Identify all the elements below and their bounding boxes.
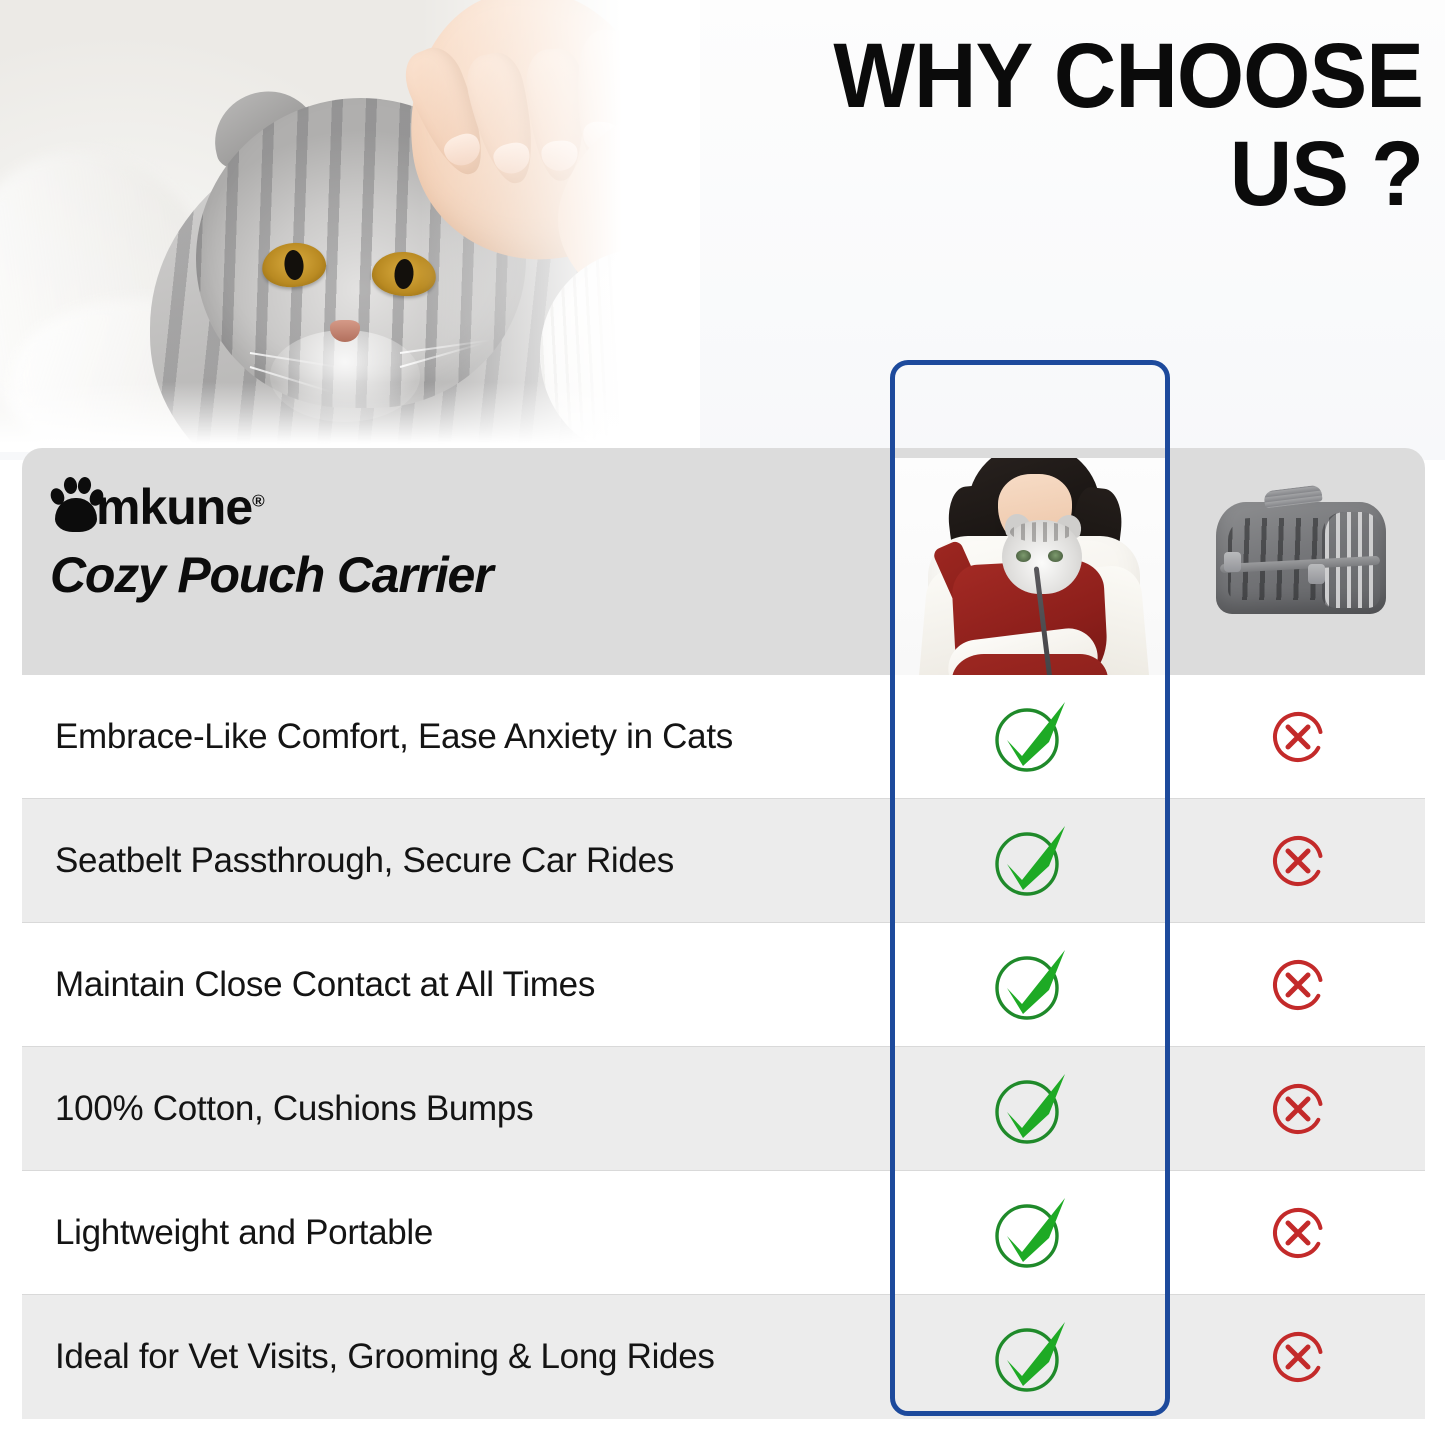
green-check-circle-icon <box>987 942 1073 1028</box>
hero-cat-photo <box>0 0 700 452</box>
table-row: Ideal for Vet Visits, Grooming & Long Ri… <box>22 1295 1425 1419</box>
table-row: 100% Cotton, Cushions Bumps <box>22 1047 1425 1171</box>
green-check-circle-icon <box>987 694 1073 780</box>
our-product-cell <box>890 675 1170 799</box>
feature-label: Ideal for Vet Visits, Grooming & Long Ri… <box>22 1337 890 1377</box>
competitor-cell <box>1170 675 1425 799</box>
our-product-cell <box>890 1295 1170 1419</box>
red-cross-circle-icon <box>1268 707 1328 767</box>
our-product-cell <box>890 1171 1170 1295</box>
red-cross-circle-icon <box>1268 955 1328 1015</box>
red-cross-circle-icon <box>1268 831 1328 891</box>
table-row: Seatbelt Passthrough, Secure Car Rides <box>22 799 1425 923</box>
our-product-cell <box>890 923 1170 1047</box>
table-row: Maintain Close Contact at All Times <box>22 923 1425 1047</box>
competitor-cell <box>1170 1295 1425 1419</box>
feature-label: 100% Cotton, Cushions Bumps <box>22 1089 890 1129</box>
green-check-circle-icon <box>987 1314 1073 1400</box>
our-product-cell <box>890 1047 1170 1171</box>
comparison-table: mkune® Cozy Pouch Carrier <box>22 448 1425 1416</box>
registered-mark: ® <box>252 491 264 510</box>
competitor-product-image <box>1202 476 1402 646</box>
competitor-cell <box>1170 1171 1425 1295</box>
headline-line-1: WHY CHOOSE <box>709 28 1423 126</box>
headline-line-2: US ? <box>709 126 1423 224</box>
green-check-circle-icon <box>987 1190 1073 1276</box>
brand-block: mkune® Cozy Pouch Carrier <box>50 470 870 602</box>
brand-logo: mkune® <box>50 470 870 532</box>
our-product-cell <box>890 799 1170 923</box>
competitor-cell <box>1170 923 1425 1047</box>
product-name: Cozy Pouch Carrier <box>50 548 870 602</box>
red-cross-circle-icon <box>1268 1203 1328 1263</box>
paw-print-icon <box>50 474 102 532</box>
feature-label: Seatbelt Passthrough, Secure Car Rides <box>22 841 890 881</box>
feature-label: Maintain Close Contact at All Times <box>22 965 890 1005</box>
feature-label: Embrace-Like Comfort, Ease Anxiety in Ca… <box>22 717 890 757</box>
hero-section: WHY CHOOSE US ? <box>0 0 1445 460</box>
red-cross-circle-icon <box>1268 1327 1328 1387</box>
green-check-circle-icon <box>987 818 1073 904</box>
feature-label: Lightweight and Portable <box>22 1213 890 1253</box>
table-row: Embrace-Like Comfort, Ease Anxiety in Ca… <box>22 675 1425 799</box>
brand-name: mkune® <box>96 482 264 532</box>
page-title: WHY CHOOSE US ? <box>709 28 1423 223</box>
red-cross-circle-icon <box>1268 1079 1328 1139</box>
competitor-cell <box>1170 799 1425 923</box>
green-check-circle-icon <box>987 1066 1073 1152</box>
pet-crate <box>1216 502 1386 614</box>
competitor-cell <box>1170 1047 1425 1171</box>
photo-fade-bottom <box>0 382 700 452</box>
table-row: Lightweight and Portable <box>22 1171 1425 1295</box>
